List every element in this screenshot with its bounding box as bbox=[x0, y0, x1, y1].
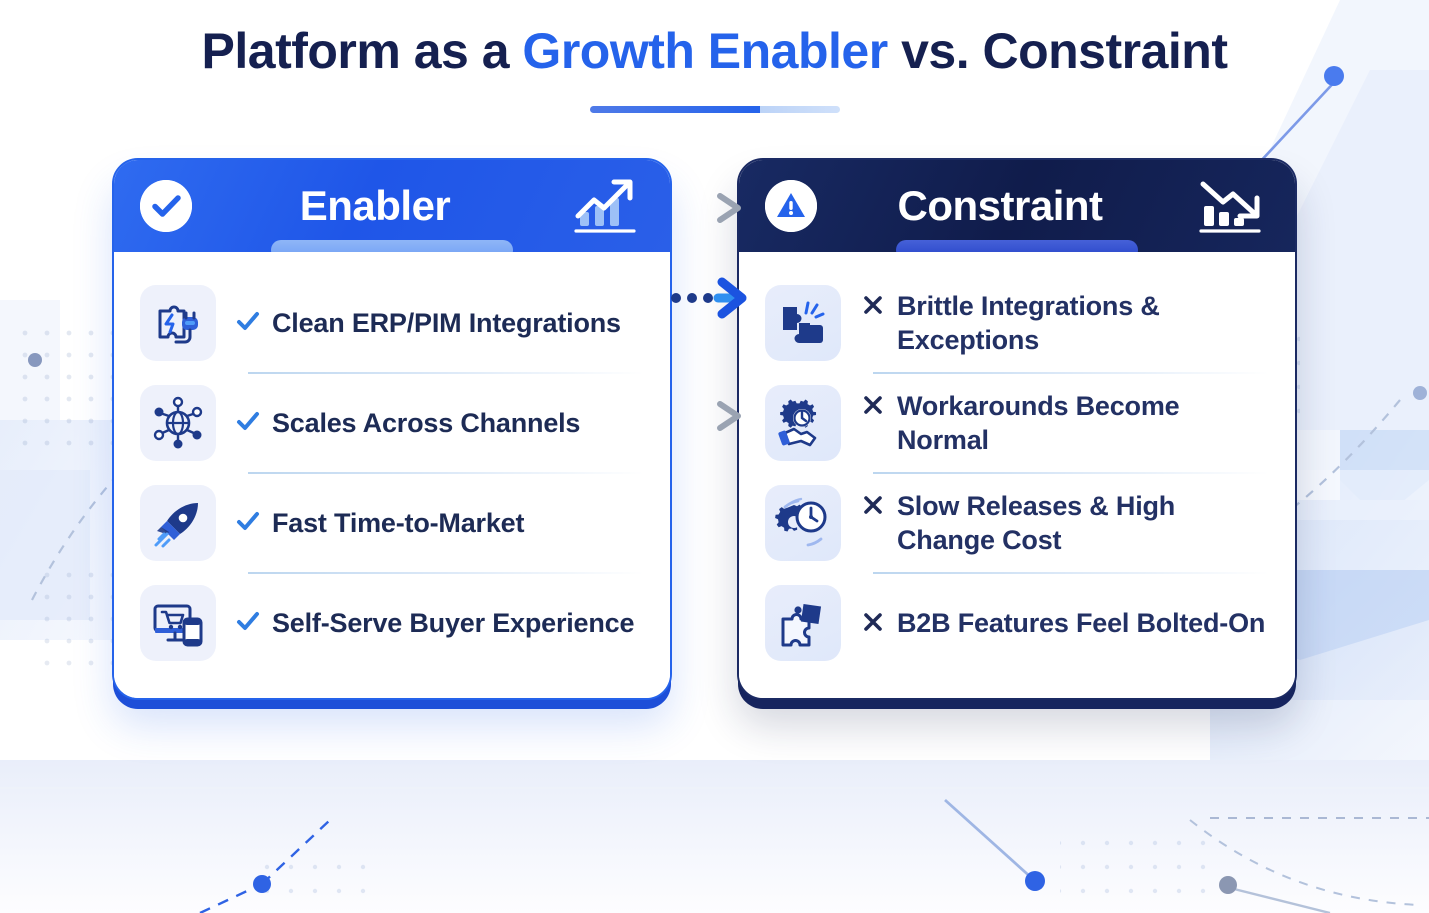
check-icon bbox=[236, 610, 260, 637]
cross-icon bbox=[861, 610, 885, 639]
title-divider bbox=[590, 106, 840, 113]
enabler-card: Enabler bbox=[112, 158, 672, 700]
title-suffix: vs. Constraint bbox=[888, 23, 1228, 79]
trend-down-chart-icon bbox=[1193, 176, 1269, 236]
list-item-label: Clean ERP/PIM Integrations bbox=[272, 306, 621, 340]
network-globe-icon bbox=[140, 385, 216, 461]
list-item[interactable]: Clean ERP/PIM Integrations bbox=[140, 274, 644, 372]
title-prefix: Platform as a bbox=[202, 23, 523, 79]
constraint-card-header: Constraint bbox=[739, 160, 1295, 252]
gear-clock-icon bbox=[765, 485, 841, 561]
constraint-title: Constraint bbox=[807, 182, 1193, 230]
list-item[interactable]: Scales Across Channels bbox=[140, 374, 644, 472]
gear-handshake-icon bbox=[765, 385, 841, 461]
connector-middle bbox=[671, 282, 742, 314]
detached-puzzle-piece-icon bbox=[765, 585, 841, 661]
enabler-card-body: Clean ERP/PIM Integrations bbox=[114, 252, 670, 698]
list-item-label: Slow Releases & High Change Cost bbox=[897, 489, 1269, 557]
list-item[interactable]: Brittle Integrations & Exceptions bbox=[765, 274, 1269, 372]
check-icon bbox=[236, 310, 260, 337]
list-item[interactable]: Slow Releases & High Change Cost bbox=[765, 474, 1269, 572]
page-title: Platform as a Growth Enabler vs. Constra… bbox=[0, 22, 1429, 80]
list-item[interactable]: Workarounds Become Normal bbox=[765, 374, 1269, 472]
page-title-block: Platform as a Growth Enabler vs. Constra… bbox=[0, 22, 1429, 113]
trend-up-chart-icon bbox=[568, 176, 644, 236]
list-item-label: Self-Serve Buyer Experience bbox=[272, 606, 634, 640]
check-icon bbox=[236, 410, 260, 437]
list-item-label: Workarounds Become Normal bbox=[897, 389, 1269, 457]
constraint-card-body: Brittle Integrations & Exceptions bbox=[739, 252, 1295, 698]
title-highlight: Growth Enabler bbox=[522, 23, 887, 79]
connector-bottom bbox=[674, 404, 738, 428]
ecommerce-devices-icon bbox=[140, 585, 216, 661]
plug-puzzle-integration-icon bbox=[140, 285, 216, 361]
connector-arrows bbox=[668, 158, 768, 818]
cross-icon bbox=[861, 493, 885, 522]
cross-icon bbox=[861, 293, 885, 322]
list-item[interactable]: Self-Serve Buyer Experience bbox=[140, 574, 644, 672]
constraint-header-tab bbox=[896, 240, 1138, 252]
constraint-card: Constraint bbox=[737, 158, 1297, 700]
connector-top bbox=[674, 196, 738, 220]
list-item[interactable]: Fast Time-to-Market bbox=[140, 474, 644, 572]
list-item[interactable]: B2B Features Feel Bolted-On bbox=[765, 574, 1269, 672]
enabler-card-header: Enabler bbox=[114, 160, 670, 252]
check-icon bbox=[236, 510, 260, 537]
cross-icon bbox=[861, 393, 885, 422]
enabler-title: Enabler bbox=[182, 182, 568, 230]
list-item-label: Brittle Integrations & Exceptions bbox=[897, 289, 1269, 357]
list-item-label: B2B Features Feel Bolted-On bbox=[897, 606, 1265, 640]
list-item-label: Scales Across Channels bbox=[272, 406, 580, 440]
enabler-header-tab bbox=[271, 240, 513, 252]
list-item-label: Fast Time-to-Market bbox=[272, 506, 524, 540]
broken-puzzle-icon bbox=[765, 285, 841, 361]
rocket-icon bbox=[140, 485, 216, 561]
